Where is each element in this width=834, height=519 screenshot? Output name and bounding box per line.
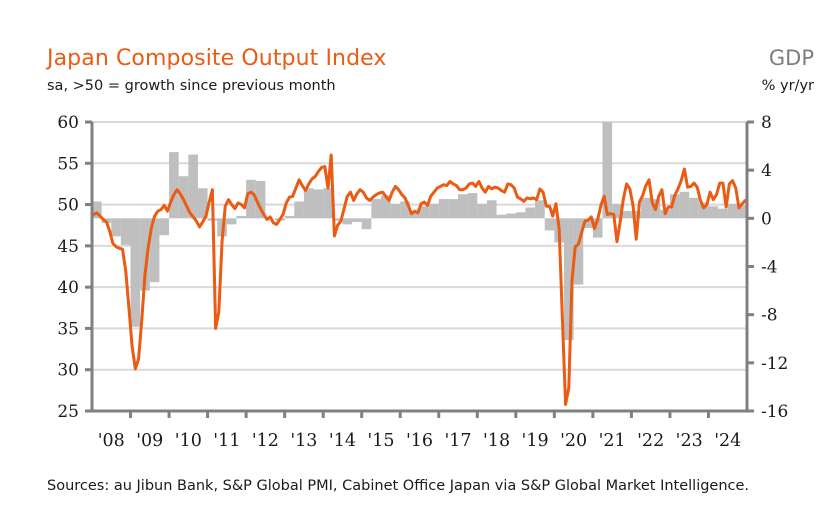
chart-subtitle: sa, >50 = growth since previous month: [47, 78, 336, 94]
svg-text:'15: '15: [367, 431, 394, 451]
svg-text:'19: '19: [522, 431, 549, 451]
svg-text:'11: '11: [213, 431, 240, 451]
svg-text:40: 40: [57, 278, 79, 298]
svg-text:25: 25: [57, 402, 79, 422]
svg-text:-4: -4: [761, 258, 778, 278]
svg-text:'20: '20: [560, 431, 587, 451]
svg-text:'21: '21: [599, 431, 626, 451]
svg-text:'13: '13: [290, 431, 317, 451]
y-axis-left-ticks: 2530354045505560: [57, 113, 92, 422]
y-axis-right-ticks: -16-12-8-4048: [747, 113, 788, 422]
svg-text:45: 45: [57, 237, 79, 257]
svg-text:'08: '08: [98, 431, 125, 451]
svg-text:-16: -16: [761, 402, 788, 422]
svg-text:'17: '17: [444, 431, 471, 451]
svg-text:'09: '09: [136, 431, 163, 451]
svg-text:8: 8: [761, 113, 772, 133]
chart-svg: 2530354045505560 -16-12-8-4048 '08'09'10…: [0, 100, 834, 470]
svg-text:-8: -8: [761, 306, 778, 326]
svg-text:30: 30: [57, 361, 79, 381]
svg-text:'14: '14: [329, 431, 356, 451]
chart-page: Japan Composite Output Index sa, >50 = g…: [0, 0, 834, 519]
svg-text:0: 0: [761, 209, 772, 229]
right-axis-title: GDP: [769, 46, 814, 70]
svg-text:4: 4: [761, 161, 772, 181]
right-axis-units: % yr/yr: [762, 78, 814, 94]
svg-text:60: 60: [57, 113, 79, 133]
sources-note: Sources: au Jibun Bank, S&P Global PMI, …: [47, 478, 749, 494]
svg-text:50: 50: [57, 196, 79, 216]
chart-plot-area: 2530354045505560 -16-12-8-4048 '08'09'10…: [0, 100, 834, 470]
svg-text:55: 55: [57, 154, 79, 174]
page-title: Japan Composite Output Index: [47, 46, 387, 71]
svg-text:'24: '24: [714, 431, 741, 451]
svg-text:-12: -12: [761, 354, 788, 374]
chart-header: Japan Composite Output Index sa, >50 = g…: [0, 0, 834, 108]
gdp-bar-series: [92, 122, 747, 340]
svg-text:'22: '22: [637, 431, 664, 451]
svg-text:35: 35: [57, 319, 79, 339]
svg-text:'16: '16: [406, 431, 433, 451]
x-axis-ticks: '08'09'10'11'12'13'14'15'16'17'18'19'20'…: [98, 411, 742, 451]
svg-text:'10: '10: [175, 431, 202, 451]
svg-text:'12: '12: [252, 431, 279, 451]
svg-text:'18: '18: [483, 431, 510, 451]
svg-text:'23: '23: [676, 431, 703, 451]
